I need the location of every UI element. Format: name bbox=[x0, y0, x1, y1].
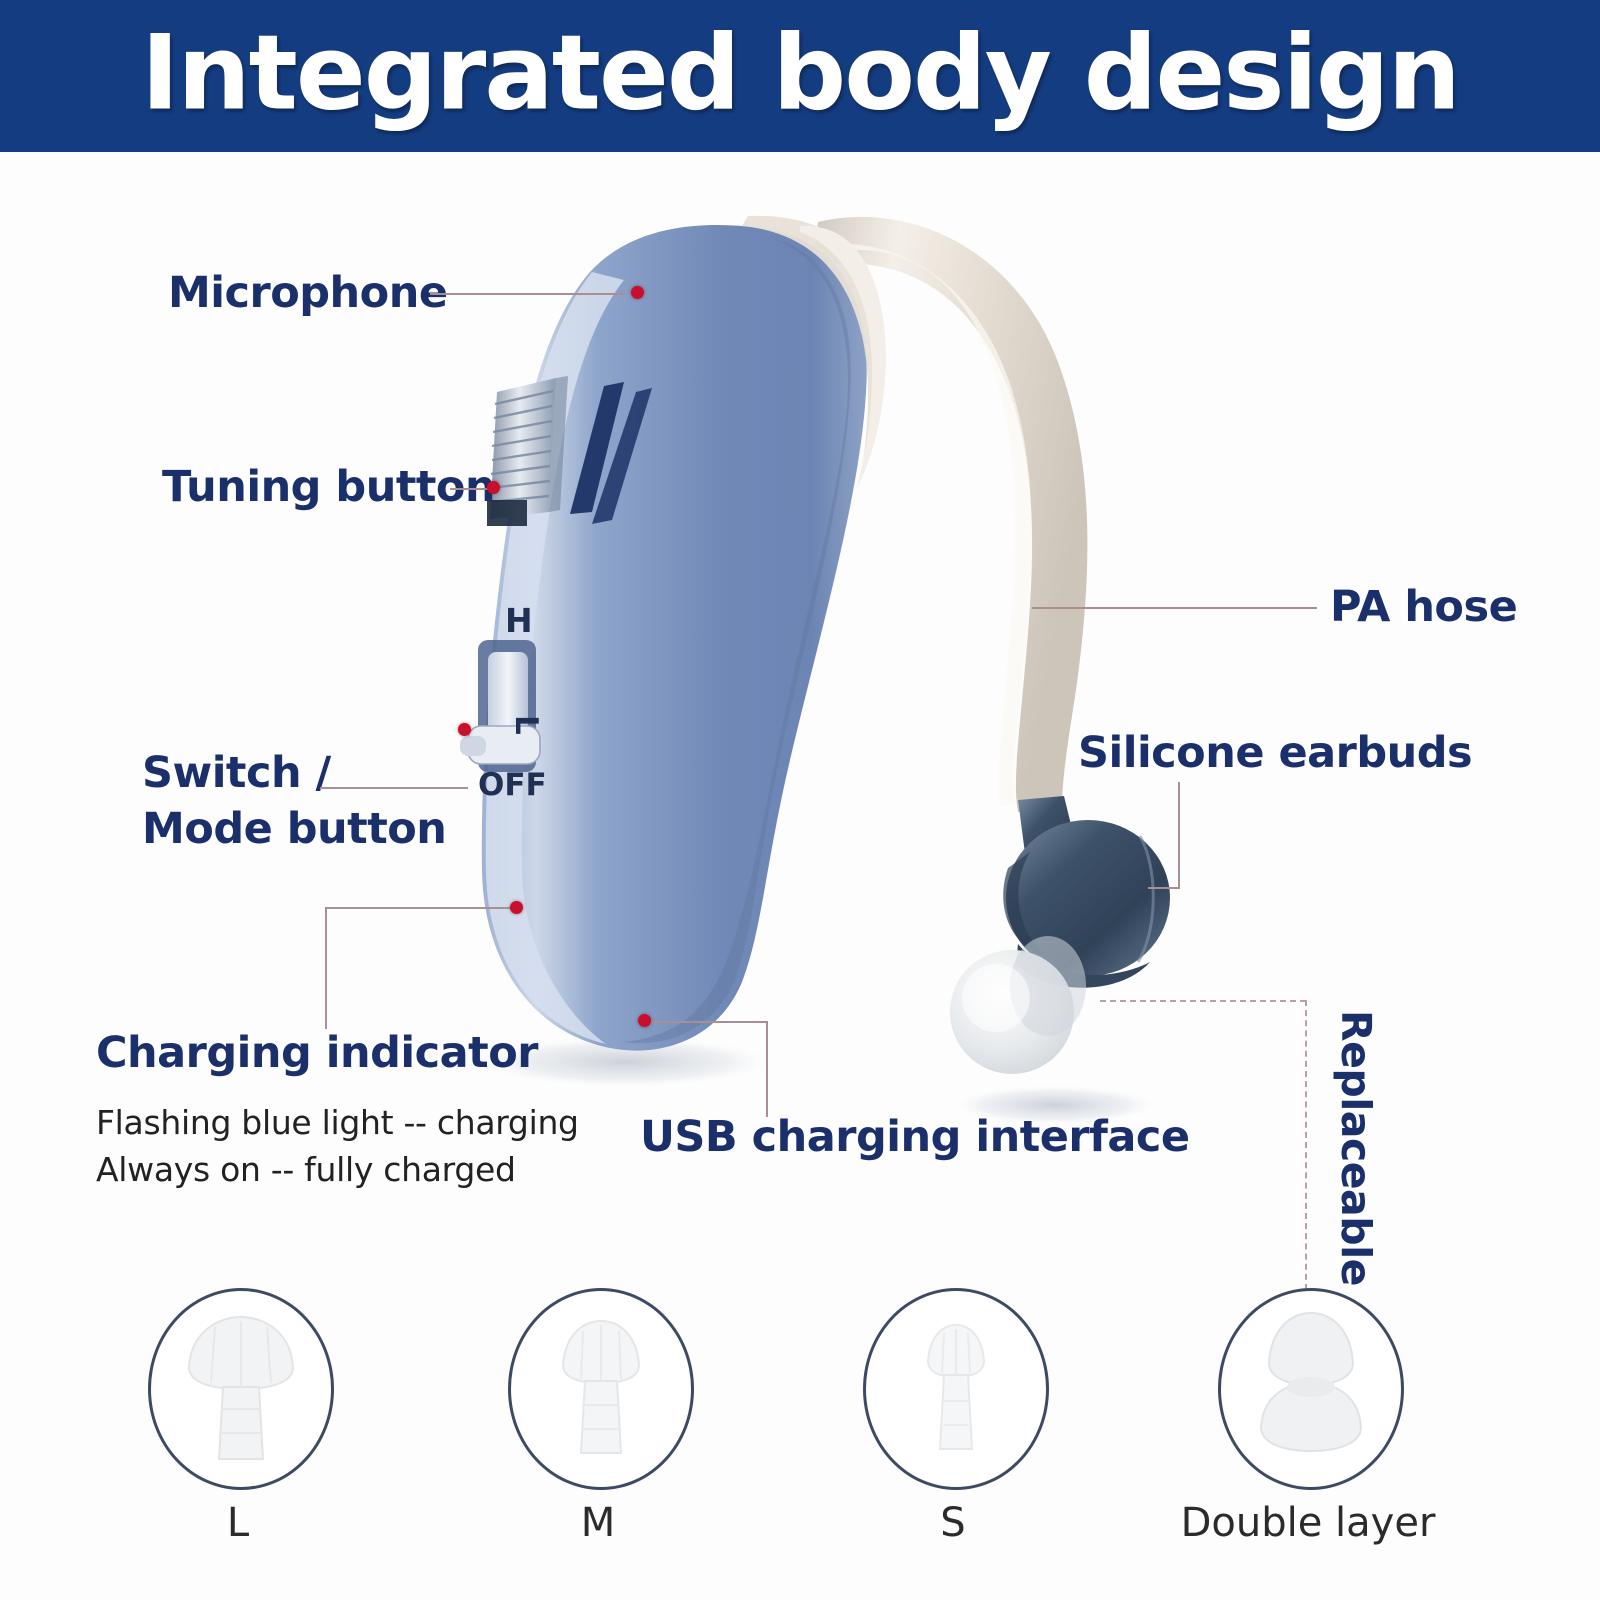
earbud-size-label-l: L bbox=[148, 1500, 328, 1546]
leader-line-charging-indicator-horizontal bbox=[325, 907, 517, 909]
leader-line-usb-vertical bbox=[766, 1021, 768, 1117]
callout-label-silicone-earbuds: Silicone earbuds bbox=[1078, 728, 1472, 779]
page-title: Integrated body design bbox=[0, 22, 1600, 125]
callout-label-usb-charging-interface: USB charging interface bbox=[640, 1112, 1190, 1163]
charging-indicator-note-line1: Flashing blue light -- charging bbox=[96, 1100, 579, 1147]
callout-label-microphone: Microphone bbox=[168, 268, 447, 319]
leader-line-pa-hose bbox=[1032, 607, 1317, 609]
earbud-circle-double-layer bbox=[1218, 1288, 1404, 1490]
leader-line-charging-indicator-vertical bbox=[325, 907, 327, 1029]
callout-label-switch-mode-line1: Switch / bbox=[142, 748, 331, 799]
callout-label-charging-indicator: Charging indicator bbox=[96, 1028, 538, 1079]
earbud-circle-s bbox=[863, 1288, 1049, 1490]
header-banner: Integrated body design bbox=[0, 0, 1600, 152]
earbud-shape-medium-dome bbox=[511, 1291, 691, 1487]
callout-label-pa-hose: PA hose bbox=[1330, 582, 1517, 633]
earbud-shape-narrow-dome bbox=[866, 1291, 1046, 1487]
leader-line-replaceable-horizontal bbox=[1100, 1000, 1306, 1002]
leader-line-microphone bbox=[430, 293, 626, 295]
callout-label-tuning-button: Tuning button bbox=[162, 462, 495, 513]
earbud-shape-double-dome bbox=[1221, 1291, 1401, 1487]
svg-text:H: H bbox=[505, 601, 533, 640]
leader-line-usb-horizontal bbox=[651, 1021, 768, 1023]
leader-line-silicone-earbuds-horizontal bbox=[1148, 887, 1180, 889]
leader-line-switch-mode bbox=[320, 787, 468, 789]
earbud-size-label-double-layer: Double layer bbox=[1168, 1500, 1448, 1546]
infographic-canvas: Integrated body design bbox=[0, 0, 1600, 1600]
earbud-circle-l bbox=[148, 1288, 334, 1490]
charging-indicator-note-line2: Always on -- fully charged bbox=[96, 1147, 516, 1194]
callout-label-switch-mode-line2: Mode button bbox=[142, 804, 446, 855]
marker-tuning-button bbox=[487, 481, 500, 494]
svg-text:L: L bbox=[508, 715, 544, 735]
marker-usb-charging-interface bbox=[638, 1014, 651, 1027]
marker-switch-mode bbox=[458, 723, 471, 736]
marker-microphone bbox=[631, 286, 644, 299]
earbud-size-label-m: M bbox=[508, 1500, 688, 1546]
earbud-size-label-s: S bbox=[863, 1500, 1043, 1546]
svg-text:OFF: OFF bbox=[478, 767, 547, 803]
marker-charging-indicator bbox=[510, 901, 523, 914]
leader-line-silicone-earbuds-vertical bbox=[1178, 782, 1180, 888]
leader-line-replaceable-vertical bbox=[1305, 1000, 1307, 1290]
earbud-circle-m bbox=[508, 1288, 694, 1490]
callout-label-replaceable: Replaceable bbox=[1332, 1010, 1380, 1286]
earbud-shape-wide-dome bbox=[151, 1291, 331, 1487]
